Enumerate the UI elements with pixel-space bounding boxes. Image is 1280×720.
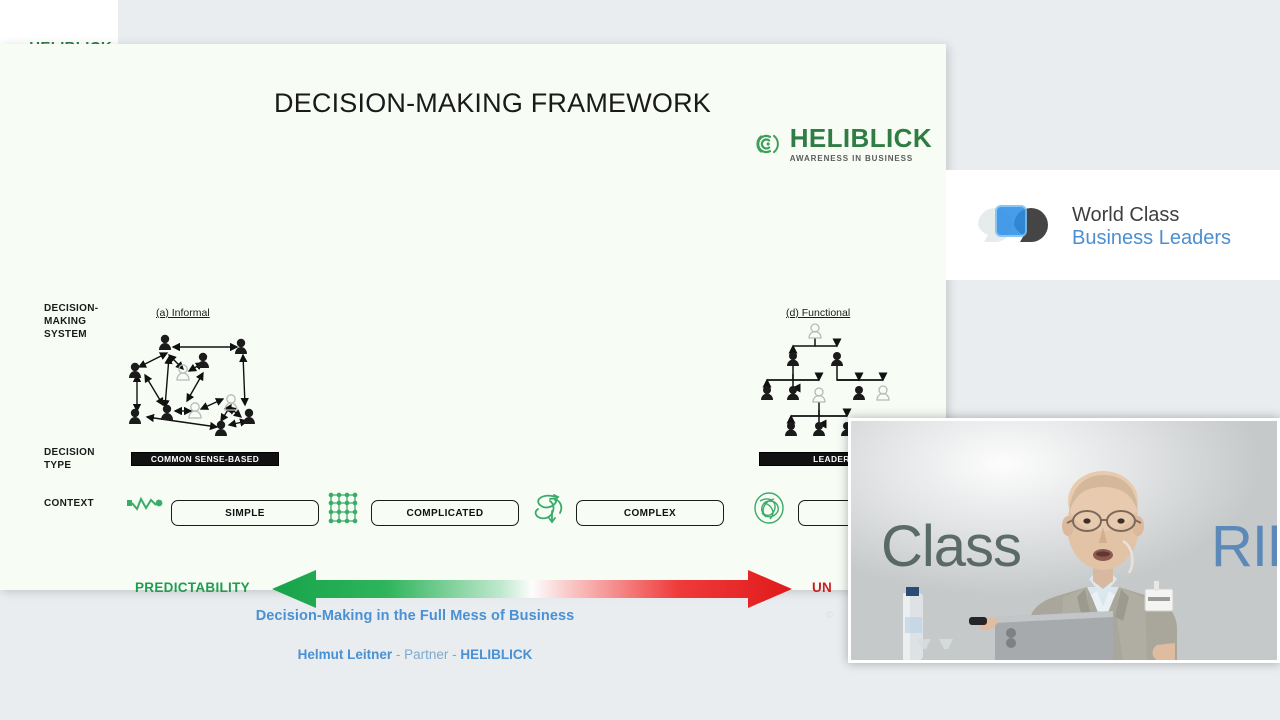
axis-label-predictability: PREDICTABILITY [135,580,250,595]
drinking-glasses [917,639,953,649]
partner-logo-line1: World Class [1072,204,1231,227]
slide-logo: HELIBLICK AWARENESS IN BUSINESS [752,118,932,170]
axis-label-unpredictability: UN [812,580,832,595]
row-label-decision-making-system: DECISION-MAKING SYSTEM [44,303,120,341]
byline-separator-2: - [448,647,460,662]
slide-logo-name: HELIBLICK [790,125,932,151]
swirl-arrows-icon [530,491,572,525]
context-box-simple: SIMPLE [171,500,319,526]
column-caption-functional: (d) Functional [786,307,850,319]
informal-network-diagram [125,329,285,447]
presentation-slide: DECISION-MAKING FRAMEWORK HELIBLICK AWAR… [0,44,946,590]
context-simple: SIMPLE [125,491,325,531]
column-caption-informal: (a) Informal [156,307,210,319]
video-frame: Class RIE [851,421,1277,660]
context-complicated: COMPLICATED [325,491,525,531]
zigzag-line-icon [125,491,167,525]
heliblick-swirl-icon [752,118,781,170]
partner-logo: World Class Business Leaders [974,198,1264,256]
partner-logo-line2: Business Leaders [1072,227,1231,250]
speaker-company: HELIBLICK [460,647,532,662]
dotted-grid-icon [325,491,367,525]
caption-block: Decision-Making in the Full Mess of Busi… [0,608,830,662]
context-complex: COMPLEX [530,491,730,531]
speaker-name: Helmut Leitner [298,647,393,662]
row-label-context: CONTEXT [44,498,120,511]
tangled-knot-icon [752,491,794,525]
decision-type-badge-common-sense: COMMON SENSE-BASED [131,452,279,466]
context-box-complicated: COMPLICATED [371,500,519,526]
speaker-role: Partner [404,647,448,662]
screen: HELIBLICK AWARENESS IN BUSINESS DECISION… [0,0,1280,720]
speech-bubbles-icon [974,199,1058,255]
talk-title: Decision-Making in the Full Mess of Busi… [0,608,830,624]
context-box-complex: COMPLEX [576,500,724,526]
slide-title: DECISION-MAKING FRAMEWORK [274,88,711,119]
water-bottle [903,587,923,660]
row-label-decision-type: DECISION TYPE [44,447,120,473]
talk-byline: Helmut Leitner - Partner - HELIBLICK [0,647,830,662]
partner-logo-card: World Class Business Leaders [946,170,1280,280]
slide-logo-tagline: AWARENESS IN BUSINESS [790,155,932,163]
byline-separator-1: - [392,647,404,662]
predictability-gradient-arrow [272,568,792,610]
speaker-figure [851,421,1277,660]
speaker-video-overlay[interactable]: Class RIE [848,418,1280,663]
